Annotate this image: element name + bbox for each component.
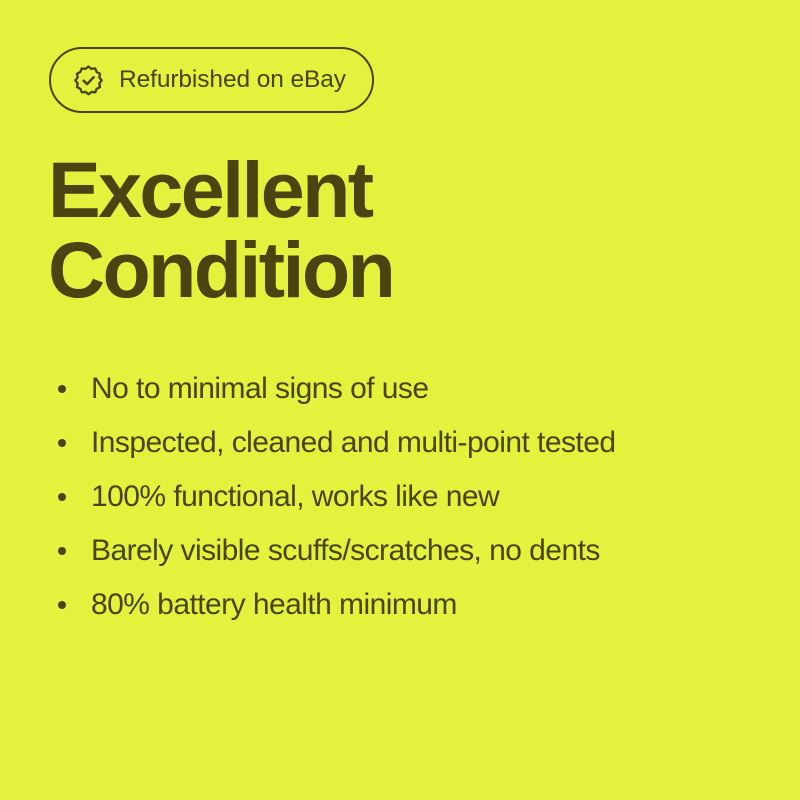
list-item: No to minimal signs of use [56,362,766,416]
page-title: Excellent Condition [48,150,748,310]
list-item: Inspected, cleaned and multi-point teste… [56,416,766,470]
list-item-label: No to minimal signs of use [91,371,429,407]
condition-feature-list: No to minimal signs of use Inspected, cl… [56,362,766,632]
list-item-label: Barely visible scuffs/scratches, no dent… [91,533,600,569]
list-item: 100% functional, works like new [56,470,766,524]
verified-rosette-check-icon [73,65,104,96]
list-item-label: Inspected, cleaned and multi-point teste… [91,425,615,461]
page-title-line-1: Excellent [48,150,748,230]
bullet-dot-icon [58,547,66,555]
bullet-dot-icon [58,601,66,609]
list-item: Barely visible scuffs/scratches, no dent… [56,524,766,578]
bullet-dot-icon [58,439,66,447]
list-item-label: 80% battery health minimum [91,587,457,623]
list-item-label: 100% functional, works like new [91,479,499,515]
refurbished-badge-label: Refurbished on eBay [119,68,346,93]
list-item: 80% battery health minimum [56,578,766,632]
bullet-dot-icon [58,385,66,393]
bullet-dot-icon [58,493,66,501]
refurbished-badge: Refurbished on eBay [49,47,374,113]
page-title-line-2: Condition [48,230,748,310]
refurbished-condition-card: Refurbished on eBay Excellent Condition … [0,0,800,800]
